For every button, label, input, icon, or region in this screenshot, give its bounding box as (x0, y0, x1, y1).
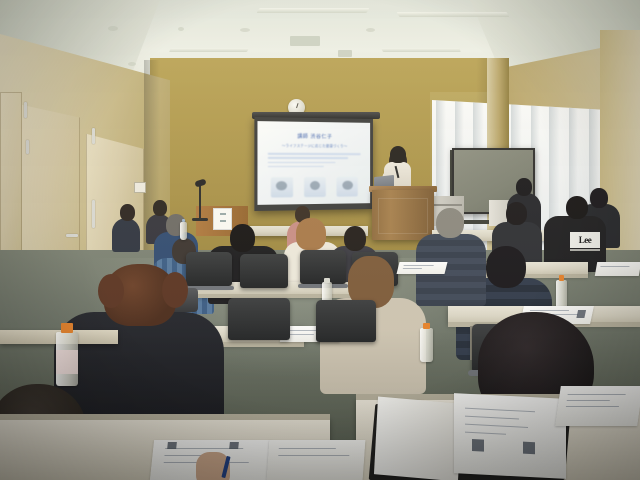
p06-head (344, 226, 366, 251)
water-bottle-back-right (420, 328, 433, 362)
document-mark (167, 442, 177, 449)
slide-illustration-row (265, 173, 364, 198)
p11-hair-curl (162, 272, 188, 308)
sprinkler-2 (178, 27, 184, 31)
sprinkler-5 (128, 62, 136, 66)
door-mid-handle-lower[interactable] (26, 140, 29, 154)
handout-row2-c (595, 262, 640, 276)
p10-head (486, 246, 526, 288)
light-strip-mid-right (381, 48, 461, 52)
ceiling-vent-right (338, 50, 352, 57)
light-strip-back-left (257, 8, 370, 13)
document-line (465, 416, 519, 420)
document-line (568, 394, 626, 395)
bottle-cap (559, 275, 565, 280)
p04-head (230, 224, 255, 252)
document-mark (229, 442, 239, 449)
ceiling-vent-center (290, 36, 320, 46)
photo-scene: 講師 渋谷仁子 ～ライフステージに応じた健康づくり～ (0, 0, 640, 480)
lee-logo-subtext (570, 249, 600, 251)
water-bottle-foreground-left (56, 332, 78, 386)
podium-front-panel (378, 198, 428, 234)
document-qr-mark (523, 442, 535, 455)
handout-far-right[interactable] (555, 386, 640, 426)
p16-head (153, 200, 167, 216)
slide-figure-3 (337, 177, 358, 198)
bottle-cap (61, 323, 72, 333)
chair-front-2[interactable] (228, 298, 290, 340)
bottle-cap (324, 278, 329, 283)
p01-body (112, 218, 140, 252)
slide-subtitle: ～ライフステージに応じた健康づくり～ (257, 143, 370, 149)
slide-figure-2 (304, 177, 326, 198)
handout-line (288, 334, 315, 335)
door-far-handle[interactable] (92, 200, 95, 228)
binder-page-bottom-left[interactable] (267, 440, 366, 480)
slide-title: 講師 渋谷仁子 (257, 133, 370, 141)
sprinkler-4 (366, 28, 375, 32)
p19-head (506, 202, 527, 225)
chair-mid-3[interactable] (300, 250, 346, 284)
chair-mid-1[interactable] (186, 252, 232, 286)
light-strip-mid-left (169, 48, 249, 52)
lee-logo-text: Lee (579, 235, 592, 245)
p07-head (436, 208, 464, 238)
document-line (465, 424, 528, 428)
document-qr-mark (472, 439, 484, 452)
document-line (278, 455, 349, 456)
bottle-label (56, 350, 78, 374)
sprinkler-1 (108, 26, 118, 31)
handout-mark (576, 310, 586, 318)
table-front-left-edge (0, 414, 330, 420)
handout-row2-b (397, 262, 448, 274)
p05-head (296, 218, 326, 250)
handout-line (403, 268, 422, 269)
door-far-handle-upper[interactable] (92, 128, 95, 144)
bottle-cap (423, 323, 430, 329)
lee-logo-patch: Lee (570, 232, 600, 248)
document-line (567, 400, 610, 401)
handout-line (530, 310, 569, 311)
slide-figure-1 (270, 177, 292, 198)
av-rack-slot (432, 204, 462, 206)
handout-line (403, 265, 433, 266)
sprinkler-3 (240, 28, 250, 32)
document-line (465, 432, 505, 435)
door-mid-handle[interactable] (24, 102, 27, 118)
handout-line (601, 266, 630, 267)
microphone-stand (199, 186, 201, 220)
podium (372, 190, 434, 240)
document-line (278, 448, 336, 449)
p09-head (590, 188, 608, 208)
chair-front-3[interactable] (316, 300, 376, 342)
p11-hair-curl (98, 274, 124, 308)
presenter-hair (390, 146, 406, 163)
door-mid-push-bar[interactable] (66, 234, 78, 237)
document-line (566, 406, 619, 407)
table-sign (213, 208, 232, 230)
p01-head (120, 204, 135, 221)
binder-page-right[interactable] (454, 393, 566, 479)
microphone-stand-base (192, 218, 208, 221)
projection-screen: 講師 渋谷仁子 ～ライフステージに応じた健康づくり～ (254, 117, 373, 211)
p17-head (516, 178, 532, 196)
bottle-cap (182, 219, 186, 222)
water-bottle-mid-left (180, 222, 187, 240)
light-switch-plate[interactable] (134, 182, 146, 193)
slide-body-text (268, 153, 360, 170)
binder-page-left[interactable] (374, 397, 462, 480)
document-line (465, 408, 534, 413)
chair-mid-2[interactable] (240, 254, 288, 288)
p08-head (566, 196, 588, 219)
light-strip-back-right (397, 12, 510, 17)
projection-screen-surface: 講師 渋谷仁子 ～ライフステージに応じた健康づくり～ (257, 121, 370, 205)
